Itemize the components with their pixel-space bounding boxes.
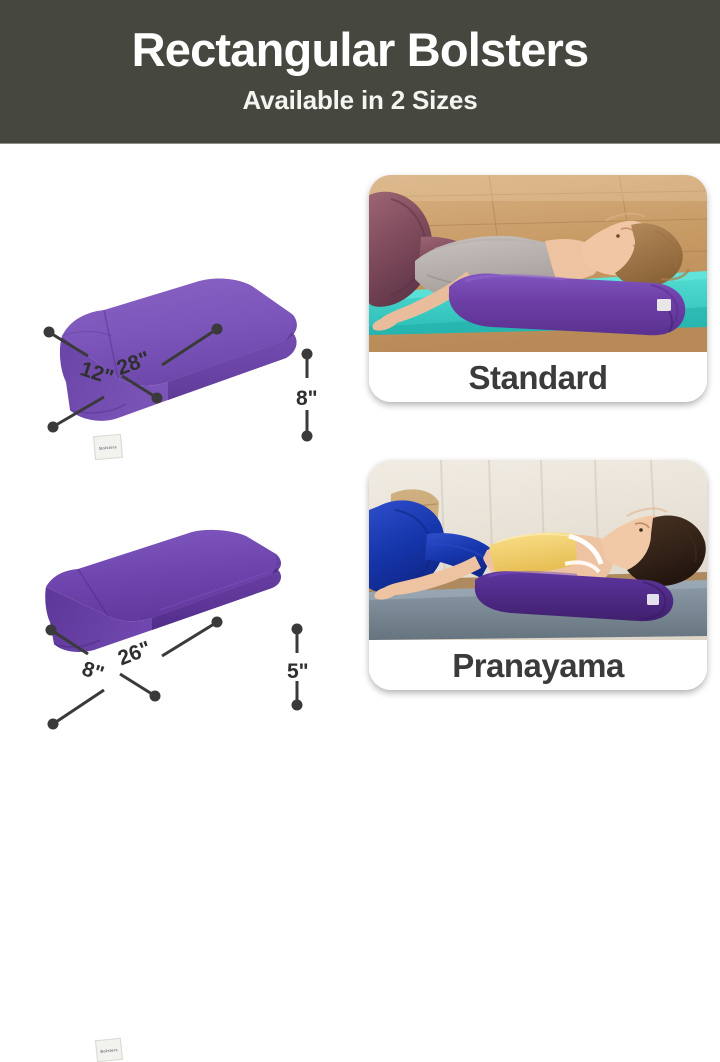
page-title: Rectangular Bolsters	[132, 26, 589, 73]
standard-card-caption: Standard	[369, 352, 707, 402]
standard-product-card[interactable]: Standard	[369, 175, 707, 402]
brand-tag: Bolsters	[95, 1038, 123, 1062]
height-label-pranayama: 5"	[287, 660, 309, 684]
product-grid: Bolsters 28"	[0, 144, 720, 720]
pranayama-caption-text: Pranayama	[452, 649, 624, 682]
standard-photo	[369, 175, 707, 352]
page-subtitle: Available in 2 Sizes	[243, 87, 478, 113]
standard-diagram-cell: Bolsters 28"	[0, 144, 360, 432]
pranayama-photo	[369, 460, 707, 640]
height-label-standard: 8"	[296, 387, 318, 411]
pranayama-photo-cell: Pranayama	[360, 432, 720, 720]
pranayama-photo-scene	[369, 460, 707, 640]
pranayama-product-card[interactable]: Pranayama	[369, 460, 707, 690]
standard-photo-scene	[369, 175, 707, 352]
pranayama-diagram-cell: Bolsters 26"	[0, 432, 360, 720]
pranayama-card-caption: Pranayama	[369, 640, 707, 690]
brand-tag-text: Bolsters	[100, 1047, 118, 1054]
infographic-page: Rectangular Bolsters Available in 2 Size…	[0, 0, 720, 720]
width-dimension-line	[32, 622, 182, 712]
standard-caption-text: Standard	[468, 361, 607, 394]
header-banner: Rectangular Bolsters Available in 2 Size…	[0, 0, 720, 144]
standard-photo-cell: Standard	[360, 144, 720, 432]
standard-bolster-illustration: Bolsters 28"	[0, 144, 360, 432]
pranayama-bolster-illustration: Bolsters 26"	[0, 432, 360, 720]
